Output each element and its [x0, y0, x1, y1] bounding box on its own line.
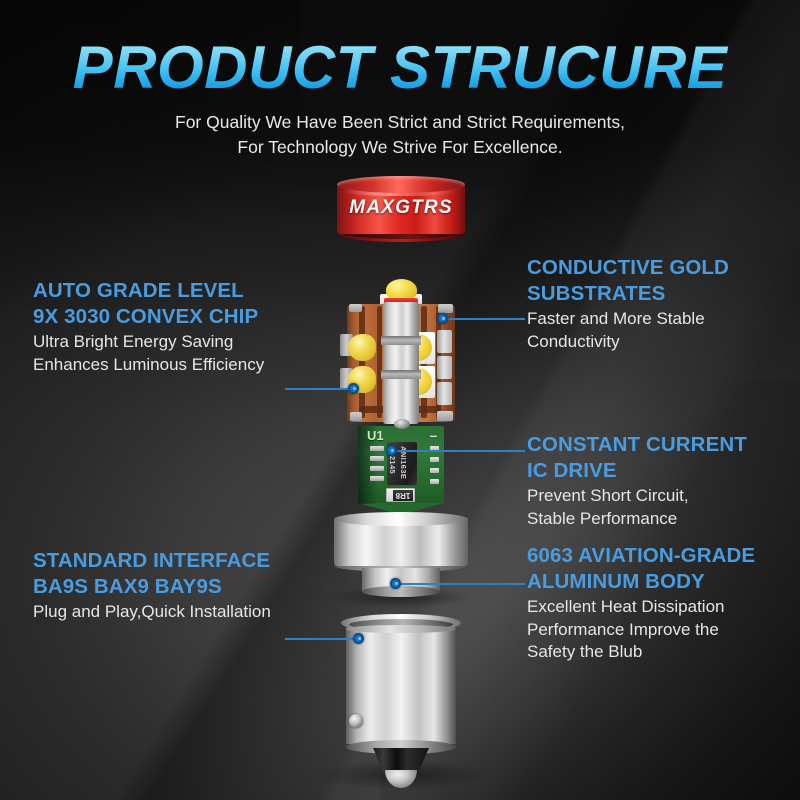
marker-dot-conductive-gold	[437, 313, 448, 324]
callout-body-line-2: Conductivity	[527, 331, 729, 354]
callout-body-line-1: Plug and Play,Quick Installation	[33, 601, 271, 624]
copper-trace	[377, 306, 382, 418]
pcb-pad	[370, 456, 384, 461]
subtitle-line-2: For Technology We Strive For Excellence.	[0, 135, 800, 160]
marker-dot-auto-grade-chip	[348, 383, 359, 394]
callout-body: Excellent Heat Dissipation Performance I…	[527, 596, 755, 664]
callout-aluminum-body: 6063 AVIATION-GRADE ALUMINUM BODY Excell…	[527, 543, 755, 664]
callout-heading-line-1: STANDARD INTERFACE	[33, 548, 271, 574]
led-heat-fin-right	[437, 382, 452, 405]
callout-heading-line-2: 9X 3030 CONVEX CHIP	[33, 304, 264, 330]
product-part-aluminum-body	[334, 512, 468, 600]
callout-conductive-gold: CONDUCTIVE GOLD SUBSTRATES Faster and Mo…	[527, 255, 729, 353]
callout-body-line-2: Stable Performance	[527, 508, 747, 531]
callout-heading-line-2: IC DRIVE	[527, 458, 747, 484]
product-part-red-cap: MAXGTRS	[337, 176, 465, 242]
base-rim-lip	[346, 625, 456, 633]
copper-trace	[359, 306, 365, 418]
callout-heading-line-1: AUTO GRADE LEVEL	[33, 278, 264, 304]
callout-heading-line-1: CONDUCTIVE GOLD	[527, 255, 729, 281]
callout-body-line-2: Enhances Luminous Efficiency	[33, 354, 264, 377]
led-column-segment	[381, 336, 421, 345]
brand-logo-text: MAXGTRS	[337, 197, 465, 219]
page-subtitle: For Quality We Have Been Strict and Stri…	[0, 110, 800, 160]
pcb-pad	[430, 468, 439, 473]
pcb-pad	[430, 479, 439, 484]
product-part-led-head	[337, 278, 465, 430]
product-part-driver-pcb: U1 – ANI163E A2145 1R8	[358, 426, 444, 518]
pcb-pad	[370, 446, 384, 451]
led-corner-shoulder	[438, 304, 453, 313]
callout-body-line-1: Prevent Short Circuit,	[527, 485, 747, 508]
leader-line-standard-interface	[285, 638, 358, 640]
led-heat-fin-right	[437, 330, 452, 353]
pcb-pad	[370, 466, 384, 471]
leader-line-conductive-gold	[443, 318, 525, 320]
pcb-designator-label: U1	[367, 428, 384, 443]
led-column-segment	[381, 370, 421, 379]
led-chip-left-upper	[348, 334, 376, 361]
marker-dot-aluminum-body	[390, 578, 401, 589]
bayonet-pin	[349, 714, 363, 728]
callout-body-line-2: Performance Improve the	[527, 619, 755, 642]
callout-heading-line-2: SUBSTRATES	[527, 281, 729, 307]
resistor-body: 1R8	[393, 490, 413, 501]
led-corner-shoulder	[437, 411, 453, 421]
cap-top-ellipse	[337, 176, 465, 193]
callout-heading-line-1: 6063 AVIATION-GRADE	[527, 543, 755, 569]
marker-dot-constant-current-ic	[386, 445, 397, 456]
callout-body-line-1: Faster and More Stable	[527, 308, 729, 331]
page-title: PRODUCT STRUCURE	[0, 36, 800, 99]
aluminum-flange-top	[334, 512, 468, 526]
infographic-canvas: PRODUCT STRUCURE For Quality We Have Bee…	[0, 0, 800, 800]
subtitle-line-1: For Quality We Have Been Strict and Stri…	[0, 110, 800, 135]
callout-auto-grade-chip: AUTO GRADE LEVEL 9X 3030 CONVEX CHIP Ult…	[33, 278, 264, 376]
aluminum-neck-bottom	[362, 586, 440, 597]
callout-body-line-1: Ultra Bright Energy Saving	[33, 331, 264, 354]
leader-line-aluminum-body	[396, 583, 525, 585]
callout-standard-interface: STANDARD INTERFACE BA9S BAX9 BAY9S Plug …	[33, 548, 271, 624]
callout-body: Faster and More Stable Conductivity	[527, 308, 729, 353]
pcb-solder-blob	[394, 419, 410, 429]
pcb-resistor: 1R8	[386, 488, 415, 502]
callout-constant-current-ic: CONSTANT CURRENT IC DRIVE Prevent Short …	[527, 432, 747, 530]
pcb-pad	[370, 476, 384, 481]
callout-heading-line-1: CONSTANT CURRENT	[527, 432, 747, 458]
pcb-pad	[430, 457, 439, 462]
callout-body: Plug and Play,Quick Installation	[33, 601, 271, 624]
callout-body-line-3: Safety the Blub	[527, 641, 755, 664]
callout-heading-line-2: ALUMINUM BODY	[527, 569, 755, 595]
callout-heading-line-2: BA9S BAX9 BAY9S	[33, 574, 271, 600]
callout-body: Prevent Short Circuit, Stable Performanc…	[527, 485, 747, 530]
led-corner-shoulder	[349, 304, 362, 312]
resistor-code-label: 1R8	[393, 490, 413, 501]
led-center-column	[383, 302, 419, 424]
callout-body-line-1: Excellent Heat Dissipation	[527, 596, 755, 619]
marker-dot-standard-interface	[353, 633, 364, 644]
leader-line-constant-current-ic	[392, 450, 525, 452]
pcb-polarity-label: –	[430, 428, 437, 443]
led-corner-shoulder	[350, 412, 362, 421]
callout-body: Ultra Bright Energy Saving Enhances Lumi…	[33, 331, 264, 376]
led-heat-fin-right	[437, 356, 452, 379]
leader-line-auto-grade-chip	[285, 388, 353, 390]
